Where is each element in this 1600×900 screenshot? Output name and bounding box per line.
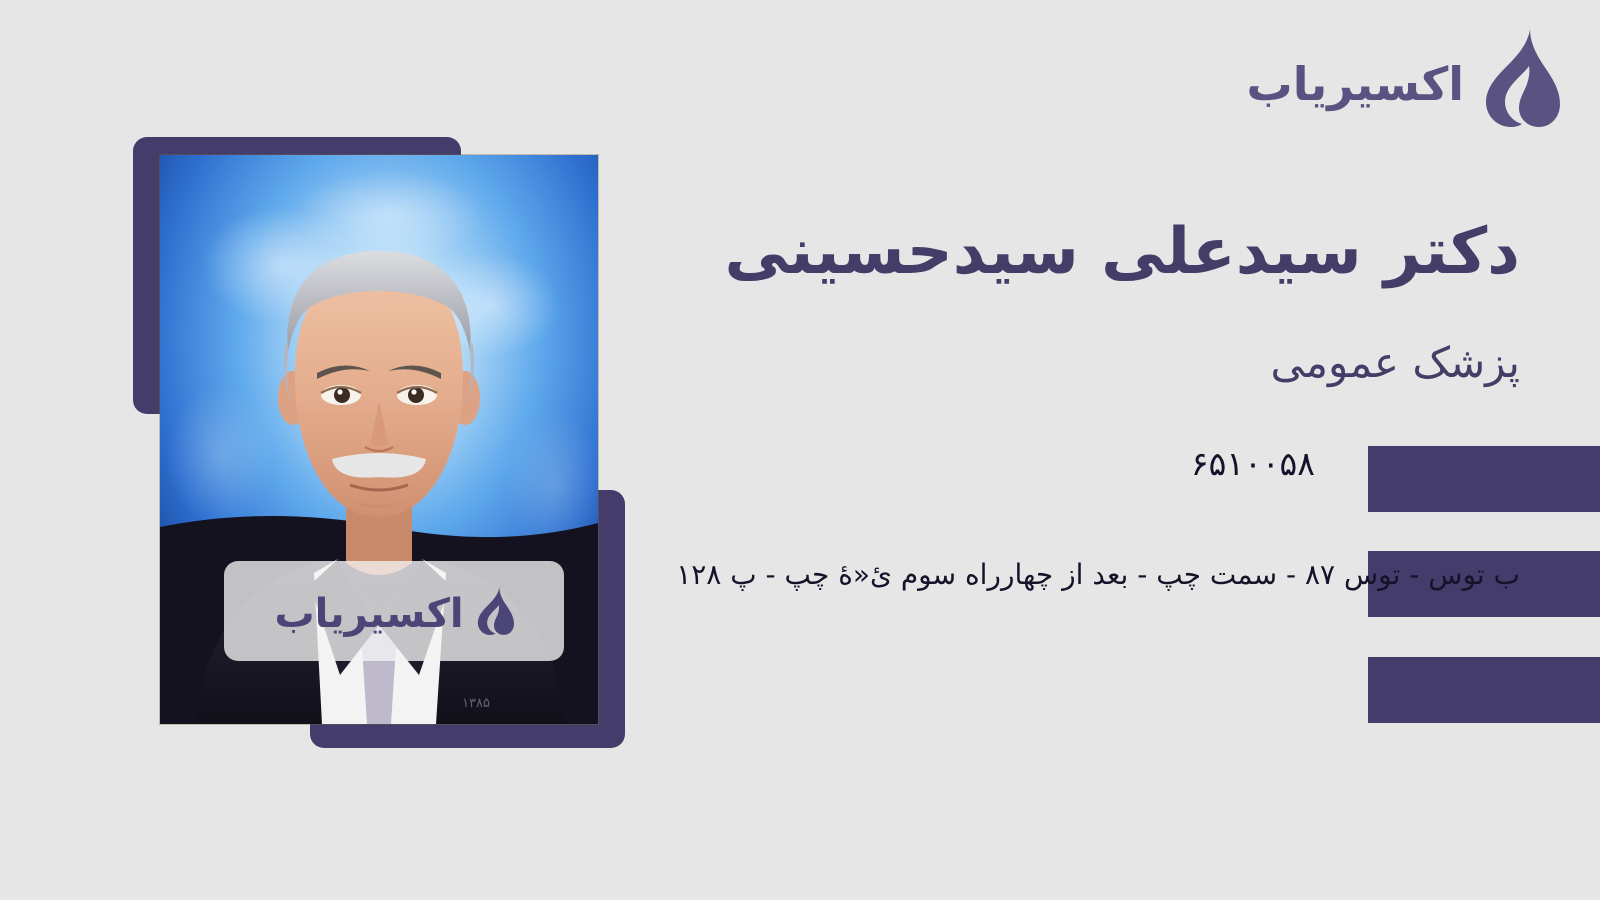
doctor-specialty: پزشک عمومی <box>1270 338 1520 388</box>
edge-bar-1 <box>1368 446 1600 512</box>
doctor-photo: ۱۳۸۵ اکسیریاب <box>160 155 598 724</box>
photo-watermark: اکسیریاب <box>224 561 564 661</box>
brand-name: اکسیریاب <box>1247 61 1465 107</box>
doctor-address: ب توس - توس ۸۷ - سمت چپ - بعد از چهارراه… <box>676 557 1520 593</box>
edge-bar-3 <box>1368 657 1600 723</box>
flame-drop-icon <box>1474 28 1560 128</box>
watermark-brand-name: اکسیریاب <box>274 594 463 634</box>
brand-logo[interactable]: اکسیریاب <box>1247 28 1561 128</box>
doctor-phone: ۶۵۱۰۰۵۸ <box>1191 444 1315 484</box>
doctor-profile-card: اکسیریاب <box>0 0 1600 900</box>
photo-block: ۱۳۸۵ اکسیریاب <box>125 128 645 758</box>
doctor-name: دکتر سیدعلی سیدحسینی <box>725 216 1520 290</box>
flame-drop-icon <box>472 585 514 637</box>
svg-text:۱۳۸۵: ۱۳۸۵ <box>462 696 490 711</box>
